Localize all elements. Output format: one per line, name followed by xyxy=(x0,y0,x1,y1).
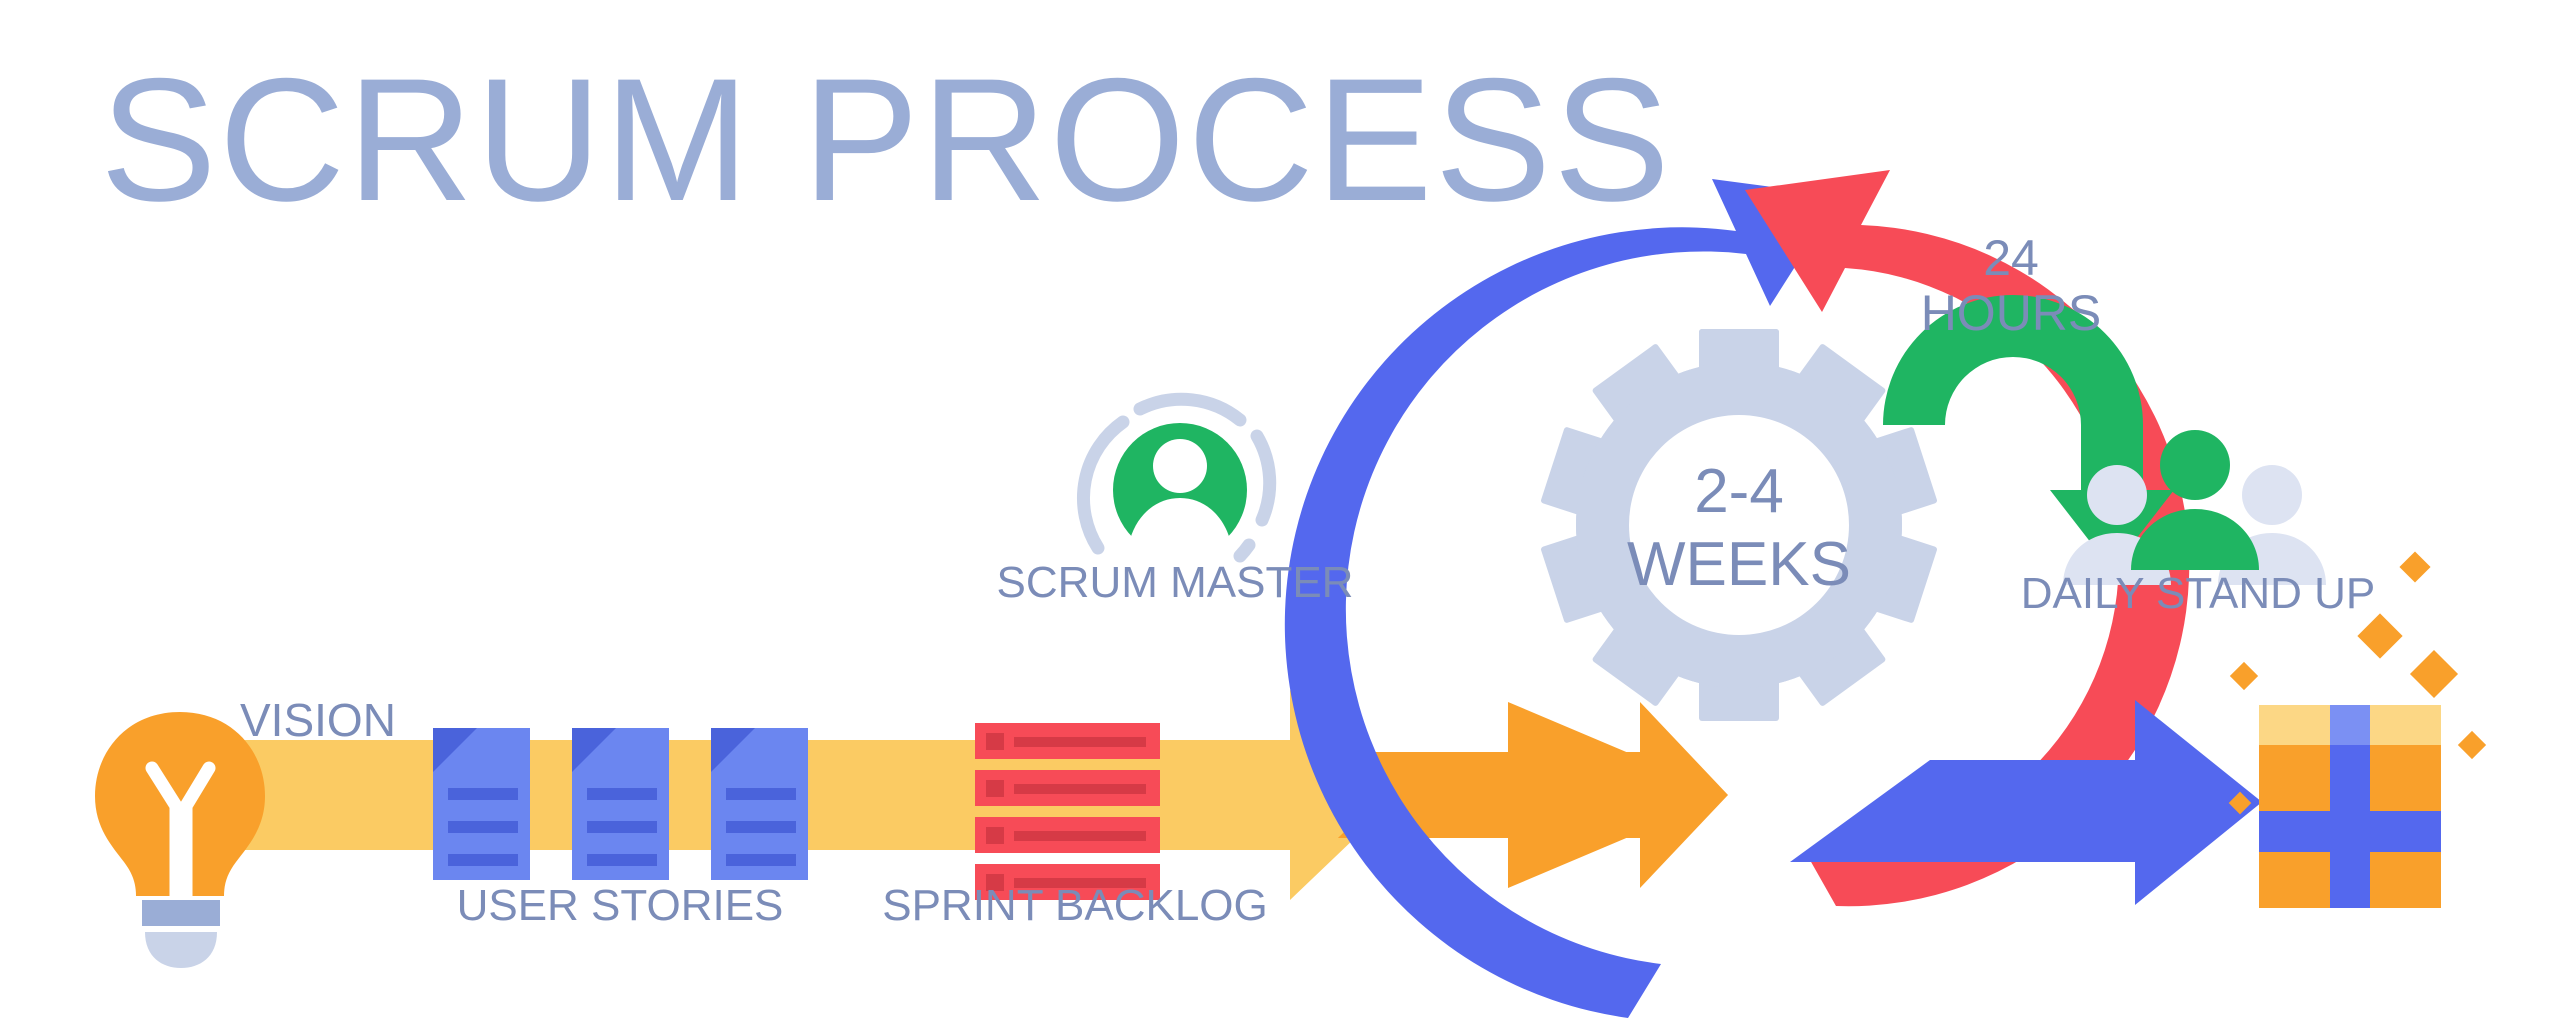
sprint-duration-line1: 2-4 xyxy=(1694,457,1784,526)
gift-box-icon xyxy=(2259,705,2441,908)
sparkle-diamond xyxy=(2410,650,2458,698)
document-page xyxy=(572,728,669,880)
documents-icon xyxy=(433,728,808,880)
person-in-circle-icon xyxy=(1083,399,1269,573)
sparkle-diamond xyxy=(2399,551,2430,582)
arrow-backlog-to-sprint xyxy=(230,690,1400,900)
document-page xyxy=(711,728,808,880)
daily-duration-line1: 24 xyxy=(1983,230,2039,286)
sparkle-diamond xyxy=(2357,613,2402,658)
sparkle-diamond xyxy=(2458,731,2486,759)
step-label-user-stories: USER STORIES xyxy=(457,881,784,930)
scrum-process-diagram: SCRUM PROCESS VISION xyxy=(0,0,2560,1024)
step-label-vision: VISION xyxy=(240,694,396,746)
page-title: SCRUM PROCESS xyxy=(100,43,1672,238)
backlog-row xyxy=(975,723,1160,759)
infographic-canvas: SCRUM PROCESS VISION xyxy=(0,0,2560,1024)
backlog-row xyxy=(975,770,1160,806)
sparkle-diamond xyxy=(2230,662,2258,690)
sprint-duration-line2: WEEKS xyxy=(1627,530,1851,599)
document-page xyxy=(433,728,530,880)
backlog-row xyxy=(975,817,1160,853)
step-label-daily-stand-up: DAILY STAND UP xyxy=(2021,569,2376,618)
daily-duration-line2: HOURS xyxy=(1921,285,2102,341)
step-label-sprint-backlog: SPRINT BACKLOG xyxy=(882,881,1268,930)
step-label-scrum-master: SCRUM MASTER xyxy=(997,558,1354,607)
lightbulb-icon xyxy=(95,712,265,968)
